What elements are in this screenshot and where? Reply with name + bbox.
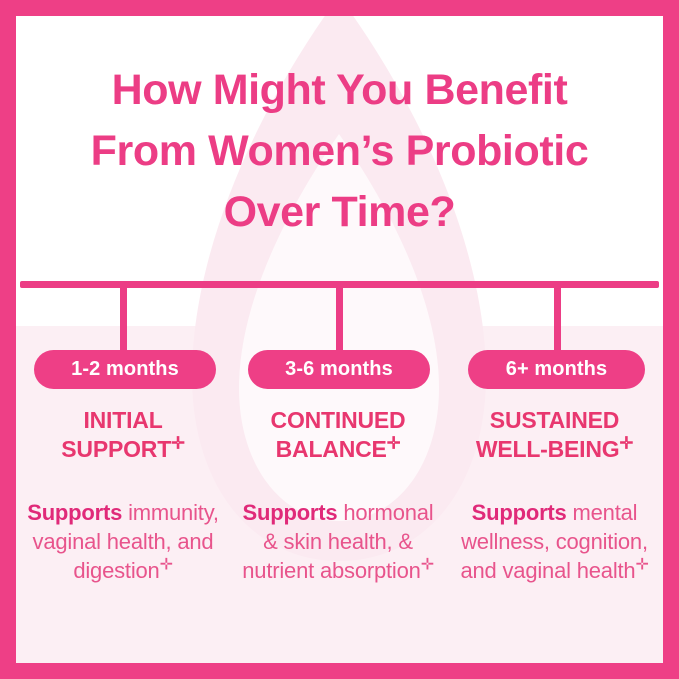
benefit-columns: INITIAL SUPPORT✛ Supports immunity, vagi… [16,406,663,585]
milestone-pill-label-2: 3-6 months [285,358,393,381]
card-canvas: How Might You Benefit From Women’s Probi… [16,16,663,663]
dagger-icon-heading-2: ✛ [387,433,401,452]
benefit-heading-text-2: CONTINUED BALANCE [271,407,406,462]
milestone-pill-label-3: 6+ months [506,358,607,381]
benefit-column-2: CONTINUED BALANCE✛ Supports hormonal & s… [230,406,446,585]
benefit-body-lead-3: Supports [472,500,567,525]
benefit-body-lead-1: Supports [27,500,122,525]
dagger-icon-heading-3: ✛ [619,433,633,452]
milestone-pill-1: 1-2 months [34,350,216,389]
benefit-column-1: INITIAL SUPPORT✛ Supports immunity, vagi… [16,406,230,585]
dagger-icon-body-1: ✛ [160,557,173,574]
benefit-heading-2: CONTINUED BALANCE✛ [234,406,442,464]
benefit-heading-1: INITIAL SUPPORT✛ [24,406,222,464]
infographic-card: How Might You Benefit From Women’s Probi… [0,0,679,679]
dagger-icon-body-2: ✛ [421,557,434,574]
benefit-body-2: Supports hormonal & skin health, & nutri… [234,498,442,586]
benefit-heading-3: SUSTAINED WELL-BEING✛ [448,406,661,464]
benefit-body-1: Supports immunity, vaginal health, and d… [24,498,222,586]
benefit-body-lead-2: Supports [243,500,338,525]
milestone-pill-label-1: 1-2 months [71,358,179,381]
benefit-column-3: SUSTAINED WELL-BEING✛ Supports mental we… [446,406,663,585]
timeline-rule [20,281,659,288]
milestone-pill-2: 3-6 months [248,350,430,389]
benefit-body-3: Supports mental wellness, cognition, and… [448,498,661,586]
page-title: How Might You Benefit From Women’s Probi… [16,60,663,243]
benefit-heading-text-1: INITIAL SUPPORT [61,407,171,462]
dagger-icon-body-3: ✛ [635,557,648,574]
milestone-pill-3: 6+ months [468,350,645,389]
dagger-icon-heading-1: ✛ [171,433,185,452]
benefit-heading-text-3: SUSTAINED WELL-BEING [476,407,620,462]
